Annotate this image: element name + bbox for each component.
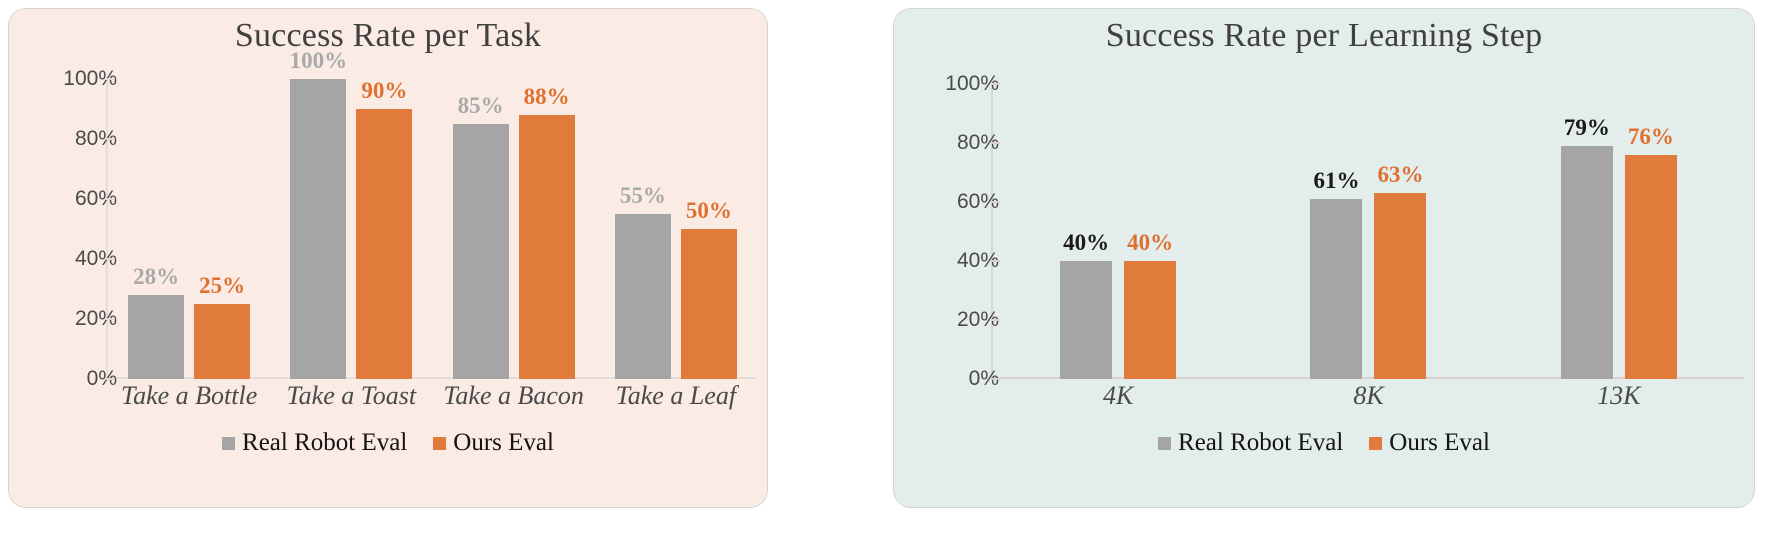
x-axis-category-label: Take a Bacon xyxy=(433,381,595,411)
legend-label: Ours Eval xyxy=(453,429,554,457)
legend-label: Real Robot Eval xyxy=(1178,429,1343,457)
chart-title-task: Success Rate per Task xyxy=(9,17,767,55)
bar-ours-eval[interactable]: 25% xyxy=(194,304,250,379)
legend-swatch-icon xyxy=(1158,437,1171,450)
bar-ours-eval[interactable]: 50% xyxy=(681,229,737,379)
y-axis-tick-label: 60% xyxy=(21,187,117,211)
legend-label: Ours Eval xyxy=(1389,429,1490,457)
y-axis-tick-label: 80% xyxy=(906,131,999,155)
bar-value-label: 40% xyxy=(1127,230,1173,256)
bar-value-label: 28% xyxy=(133,264,179,290)
y-axis-tick-label: 20% xyxy=(906,308,999,332)
chart-panel-task: Success Rate per Task 0%20%40%60%80%100%… xyxy=(8,8,768,508)
bar-ours-eval[interactable]: 63% xyxy=(1374,193,1426,379)
y-axis-tick-label: 0% xyxy=(906,367,999,391)
bar-value-label: 50% xyxy=(686,198,732,224)
bar-group: 100%90% xyxy=(270,79,432,379)
charts-board: Success Rate per Task 0%20%40%60%80%100%… xyxy=(0,0,1774,550)
bar-ours-eval[interactable]: 76% xyxy=(1625,155,1677,379)
bar-real-robot-eval[interactable]: 40% xyxy=(1060,261,1112,379)
bar-value-label: 100% xyxy=(290,48,348,74)
y-axis-tick-label: 0% xyxy=(21,367,117,391)
y-axis-tick-label: 100% xyxy=(21,67,117,91)
legend-swatch-icon xyxy=(433,437,446,450)
x-axis-category-label: Take a Leaf xyxy=(595,381,757,411)
bar-pair: 79%76% xyxy=(1561,84,1677,379)
bar-real-robot-eval[interactable]: 85% xyxy=(453,124,509,379)
bar-group: 28%25% xyxy=(108,79,270,379)
bar-value-label: 90% xyxy=(361,78,407,104)
x-axis-category-label: 13K xyxy=(1494,381,1744,411)
bar-real-robot-eval[interactable]: 61% xyxy=(1310,199,1362,379)
bar-real-robot-eval[interactable]: 79% xyxy=(1561,146,1613,379)
bar-value-label: 85% xyxy=(458,93,504,119)
bar-groups-task: 28%25%100%90%85%88%55%50% xyxy=(108,79,757,379)
x-axis-labels-task: Take a BottleTake a ToastTake a BaconTak… xyxy=(108,381,757,411)
x-axis-category-label: Take a Toast xyxy=(270,381,432,411)
bar-group: 85%88% xyxy=(433,79,595,379)
chart-panel-learning-step: Success Rate per Learning Step 0%20%40%6… xyxy=(893,8,1755,508)
x-axis-labels-learning-step: 4K8K13K xyxy=(993,381,1744,411)
y-axis-tick-label: 100% xyxy=(906,72,999,96)
bar-groups-learning-step: 40%40%61%63%79%76% xyxy=(993,84,1744,379)
bar-ours-eval[interactable]: 40% xyxy=(1124,261,1176,379)
plot-area-learning-step: 0%20%40%60%80%100% 40%40%61%63%79%76% xyxy=(906,84,1744,379)
bar-group: 55%50% xyxy=(595,79,757,379)
y-axis-tick-label: 80% xyxy=(21,127,117,151)
bar-group: 40%40% xyxy=(993,84,1243,379)
bar-ours-eval[interactable]: 90% xyxy=(356,109,412,379)
legend-label: Real Robot Eval xyxy=(242,429,407,457)
bar-value-label: 40% xyxy=(1063,230,1109,256)
bar-real-robot-eval[interactable]: 100% xyxy=(290,79,346,379)
bar-value-label: 25% xyxy=(199,273,245,299)
legend-swatch-icon xyxy=(1369,437,1382,450)
legend-item[interactable]: Ours Eval xyxy=(433,429,554,457)
bar-pair: 28%25% xyxy=(128,79,250,379)
bar-pair: 85%88% xyxy=(453,79,575,379)
bar-pair: 100%90% xyxy=(290,79,412,379)
bar-real-robot-eval[interactable]: 55% xyxy=(615,214,671,379)
legend-task: Real Robot EvalOurs Eval xyxy=(9,429,767,457)
legend-item[interactable]: Real Robot Eval xyxy=(1158,429,1343,457)
legend-swatch-icon xyxy=(222,437,235,450)
bar-group: 61%63% xyxy=(1243,84,1493,379)
plot-area-task: 0%20%40%60%80%100% 28%25%100%90%85%88%55… xyxy=(21,79,757,379)
x-axis-category-label: 8K xyxy=(1243,381,1493,411)
bar-value-label: 88% xyxy=(524,84,570,110)
bar-value-label: 79% xyxy=(1564,115,1610,141)
bar-value-label: 63% xyxy=(1377,162,1423,188)
bar-group: 79%76% xyxy=(1494,84,1744,379)
bar-value-label: 76% xyxy=(1628,124,1674,150)
y-axis-tick-label: 20% xyxy=(21,307,117,331)
x-axis-category-label: Take a Bottle xyxy=(108,381,270,411)
bar-real-robot-eval[interactable]: 28% xyxy=(128,295,184,379)
bar-ours-eval[interactable]: 88% xyxy=(519,115,575,379)
legend-item[interactable]: Real Robot Eval xyxy=(222,429,407,457)
bar-value-label: 55% xyxy=(620,183,666,209)
y-axis-tick-label: 60% xyxy=(906,190,999,214)
y-axis-tick-label: 40% xyxy=(906,249,999,273)
bar-value-label: 61% xyxy=(1313,168,1359,194)
y-axis-tick-label: 40% xyxy=(21,247,117,271)
bar-pair: 55%50% xyxy=(615,79,737,379)
x-axis-category-label: 4K xyxy=(993,381,1243,411)
bar-pair: 61%63% xyxy=(1310,84,1426,379)
legend-item[interactable]: Ours Eval xyxy=(1369,429,1490,457)
chart-title-learning-step: Success Rate per Learning Step xyxy=(894,17,1754,55)
bar-pair: 40%40% xyxy=(1060,84,1176,379)
legend-learning-step: Real Robot EvalOurs Eval xyxy=(894,429,1754,457)
